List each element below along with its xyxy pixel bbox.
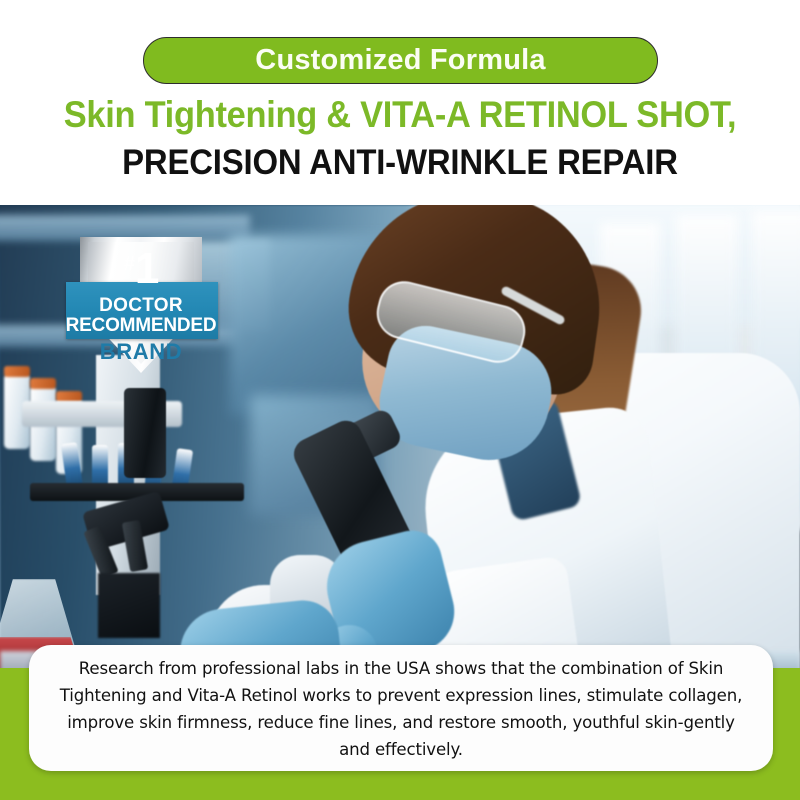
info-card-body: Research from professional labs in the U…: [55, 656, 747, 764]
microscope-slide: [98, 573, 160, 638]
info-card: Research from professional labs in the U…: [29, 645, 773, 771]
badge-line-brand: BRAND: [58, 341, 224, 363]
page-title: Skin Tightening & VITA-A RETINOL SHOT,: [28, 95, 772, 136]
badge-line-doctor: DOCTOR: [58, 296, 224, 315]
microscope-tube: [124, 388, 166, 478]
bottle-cap: [30, 378, 56, 389]
customized-formula-badge: Customized Formula: [143, 37, 658, 84]
product-poster: Customized Formula Skin Tightening & VIT…: [0, 0, 800, 800]
hash-symbol: #: [124, 253, 135, 275]
badge-line-recommended: RECOMMENDED: [58, 316, 224, 335]
badge-number: 1: [135, 244, 158, 293]
customized-formula-label: Customized Formula: [255, 46, 545, 75]
page-subtitle: PRECISION ANTI-WRINKLE REPAIR: [24, 144, 776, 183]
bottle-cap: [4, 366, 30, 377]
doctor-recommended-badge: #1 DOCTOR RECOMMENDED BRAND: [58, 237, 224, 377]
header: Customized Formula Skin Tightening & VIT…: [0, 0, 800, 205]
badge-rank: #1: [58, 247, 224, 291]
